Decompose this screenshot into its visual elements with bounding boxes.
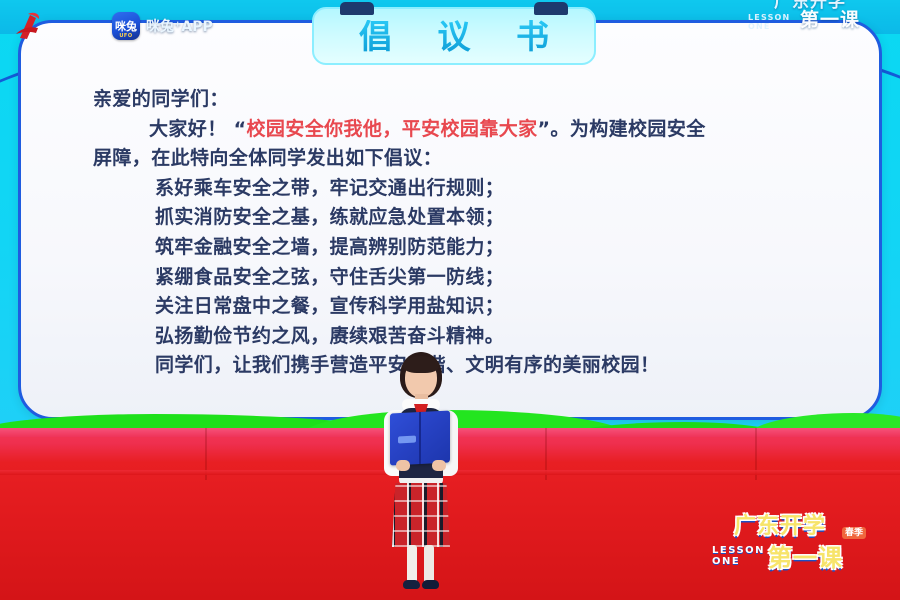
slide-line-item-2: 抓实消防安全之基，练就应急处置本领； bbox=[93, 203, 857, 233]
slide-line-item-3: 筑牢金融安全之墙，提高辨别防范能力； bbox=[93, 233, 857, 263]
slide-text: 紧绷食品安全之弦，守住舌尖第一防线； bbox=[155, 266, 504, 288]
slide-line-item-5: 关注日常盘中之餐，宣传科学用盐知识； bbox=[93, 292, 857, 322]
slide-line-item-6: 弘扬勤俭节约之风，赓续艰苦奋斗精神。 bbox=[93, 322, 857, 352]
slide-text: 筑牢金融安全之墙，提高辨别防范能力； bbox=[155, 236, 504, 258]
slide-title: 倡 议 书 bbox=[342, 20, 566, 53]
shoe-left bbox=[403, 580, 420, 589]
slide-text: 大家好！ “ bbox=[149, 118, 247, 140]
leg-right bbox=[424, 545, 434, 583]
program-logo-br-line2: 第一课 bbox=[768, 544, 843, 572]
hand-right bbox=[432, 460, 446, 471]
slide-line-item-1: 系好乘车安全之带，牢记交通出行规则； bbox=[93, 174, 857, 204]
program-logo-tr-sub2: ONE bbox=[748, 23, 790, 32]
leg-left bbox=[407, 545, 417, 583]
slide-line-item-4: 紧绷食品安全之弦，守住舌尖第一防线； bbox=[93, 263, 857, 293]
slide-title-banner: 倡 议 书 bbox=[312, 7, 596, 65]
slide-text: 亲爱的同学们： bbox=[93, 88, 229, 110]
slide-line-closing: 同学们，让我们携手营造平安和谐、文明有序的美丽校园！ bbox=[93, 351, 857, 381]
banner-tab-right bbox=[534, 2, 568, 15]
app-watermark: 咪兔 UFO 咪兔⁺APP bbox=[112, 12, 213, 40]
folder-spine bbox=[419, 412, 421, 464]
program-logo-br-sub2: ONE bbox=[712, 557, 765, 568]
shoe-right bbox=[422, 580, 439, 589]
slide-text: 系好乘车安全之带，牢记交通出行规则； bbox=[155, 177, 504, 199]
program-logo-br-line1: 广东开学 bbox=[734, 514, 826, 539]
slide-line-opening: 大家好！ “校园安全你我他，平安校园靠大家”。为构建校园安全 bbox=[93, 115, 857, 145]
slide-text: ”。为构建校园安全 bbox=[538, 118, 706, 140]
slide-body: 亲爱的同学们：大家好！ “校园安全你我他，平安校园靠大家”。为构建校园安全屏障，… bbox=[21, 85, 885, 381]
app-icon-label: 咪兔 bbox=[115, 18, 137, 34]
program-logo-tr-line2: 第一课 bbox=[800, 9, 860, 31]
app-watermark-label: 咪兔⁺APP bbox=[146, 16, 213, 36]
slide-text: 抓实消防安全之基，练就应急处置本领； bbox=[155, 206, 504, 228]
slide-text: 屏障，在此特向全体同学发出如下倡议： bbox=[93, 147, 442, 169]
app-icon-sublabel: UFO bbox=[112, 33, 140, 39]
hair-fringe bbox=[403, 356, 439, 373]
slide-text: 关注日常盘中之餐，宣传科学用盐知识； bbox=[155, 295, 504, 317]
program-logo-br-sub1: LESSON bbox=[712, 546, 765, 557]
slide-text-highlight: 校园安全你我他，平安校园靠大家 bbox=[247, 118, 538, 140]
app-icon: 咪兔 UFO bbox=[112, 12, 140, 40]
program-logo-br-badge: 春季 bbox=[842, 527, 866, 539]
hand-left bbox=[396, 460, 410, 471]
folder-emblem bbox=[398, 436, 416, 444]
slide-line-salutation: 亲爱的同学们： bbox=[93, 85, 857, 115]
tartan-skirt bbox=[392, 483, 450, 547]
student-presenter bbox=[372, 352, 468, 600]
program-logo-bottom-right: 广东开学 春季 LESSON ONE 第一课 bbox=[710, 512, 886, 586]
slide-text: 弘扬勤俭节约之风，赓续艰苦奋斗精神。 bbox=[155, 325, 504, 347]
banner-tab-left bbox=[340, 2, 374, 15]
program-logo-top-right: 广东开学 LESSON ONE 第一课 bbox=[744, 0, 894, 40]
channel-logo-icon bbox=[14, 12, 54, 40]
slide-line-opening-cont: 屏障，在此特向全体同学发出如下倡议： bbox=[93, 144, 857, 174]
video-frame: 倡 议 书 亲爱的同学们：大家好！ “校园安全你我他，平安校园靠大家”。为构建校… bbox=[0, 0, 900, 600]
